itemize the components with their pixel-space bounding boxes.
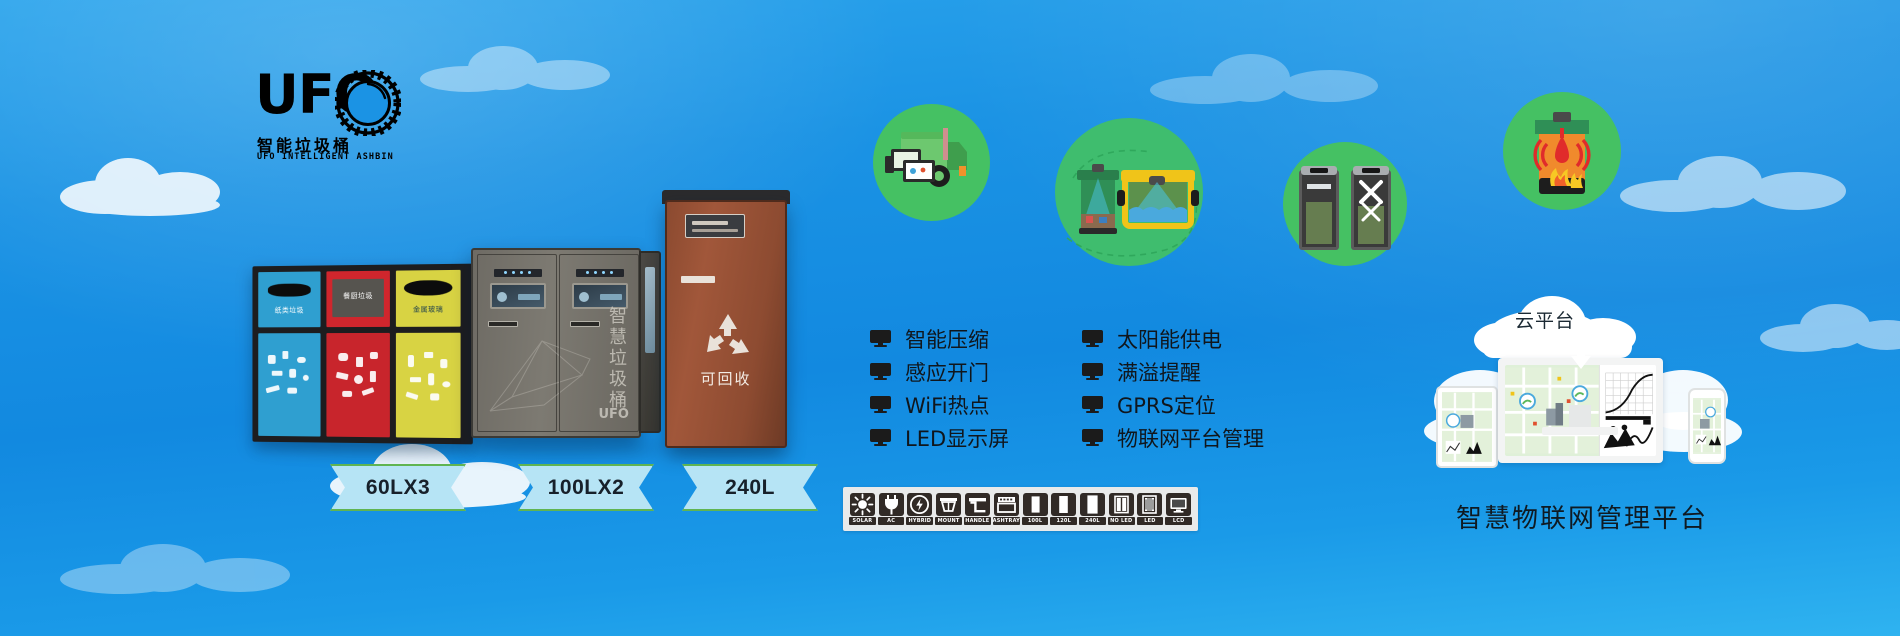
option-item-ashtray[interactable]: ASHTRAY — [993, 493, 1020, 525]
smart-bin-ufo-mark: UFO — [599, 407, 630, 422]
tri-bin-compartment-metal-glass[interactable]: 金属玻璃 — [396, 270, 461, 438]
option-item-mount[interactable]: MOUNT — [935, 493, 962, 525]
capacity-ribbon-240l: 240L — [682, 464, 818, 511]
feature-item-left-1: 感应开门 — [870, 355, 1009, 388]
analytics-chart-icon — [1600, 365, 1656, 456]
capacity-label-240l: 240L — [725, 476, 775, 500]
display-line-2 — [692, 229, 738, 232]
option-item-120l[interactable]: 120L — [1050, 493, 1077, 525]
option-item-handle[interactable]: HANDLE — [964, 493, 991, 525]
tablet-map-icon — [1442, 392, 1492, 462]
plug-icon — [879, 493, 904, 516]
feature-label: GPRS定位 — [1117, 390, 1216, 420]
display-line-1 — [692, 221, 728, 225]
sensor-text-left — [518, 294, 540, 300]
option-item-no-led[interactable]: NO LED — [1108, 493, 1135, 525]
capacity-label-60lx3: 60LX3 — [366, 476, 430, 500]
monitor-stand — [1569, 405, 1591, 427]
recycle-bin-display — [685, 214, 745, 238]
feature-item-right-3: 物联网平台管理 — [1082, 421, 1264, 454]
option-label: LED — [1137, 517, 1164, 525]
feature-label: 感应开门 — [905, 357, 989, 387]
wall-mount-icon — [936, 493, 961, 516]
cloud-decoration-right-top — [1150, 50, 1380, 110]
feature-column-right: 太阳能供电满溢提醒GPRS定位物联网平台管理 — [1082, 322, 1264, 454]
tri-bin-compartment-paper[interactable]: 纸类垃圾 — [258, 271, 320, 436]
paper-bottom-panel — [258, 333, 320, 436]
cloud-decoration-right — [1620, 150, 1850, 220]
handle-icon — [965, 493, 990, 516]
phone-screen — [1693, 398, 1721, 454]
option-item-100l[interactable]: 100L — [1022, 493, 1049, 525]
option-label: MOUNT — [935, 517, 962, 525]
monitor-icon — [870, 396, 891, 413]
option-item-lcd[interactable]: LCD — [1165, 493, 1192, 525]
product-recycle-bin[interactable]: 可回收 — [665, 200, 787, 448]
feature-circle-compaction — [1283, 142, 1407, 266]
feature-circle-fire-alarm — [1503, 92, 1621, 210]
tri-bin-label-kitchen: 餐厨垃圾 — [326, 291, 389, 301]
feature-item-right-1: 满溢提醒 — [1082, 355, 1264, 388]
no-led-icon — [1109, 493, 1134, 516]
feature-item-left-0: 智能压缩 — [870, 322, 1009, 355]
option-label: 240L — [1079, 517, 1106, 525]
metal-glass-bottom-panel — [396, 333, 461, 438]
tri-bin-label-paper: 纸类垃圾 — [258, 305, 320, 315]
option-item-led[interactable]: LED — [1137, 493, 1164, 525]
feature-label: 智能压缩 — [905, 324, 989, 354]
ufo-ring-icon — [335, 70, 401, 136]
tri-bin-compartment-kitchen[interactable]: 餐厨垃圾 — [326, 271, 389, 438]
monitor-icon — [1082, 396, 1103, 413]
brand-logo: UFO 智能垃圾桶 UFO INTELLIGENT ASHBIN — [255, 62, 400, 167]
option-item-solar[interactable]: SOLAR — [849, 493, 876, 525]
bin-fill-level-sensor-icon — [1055, 118, 1203, 266]
bin-100l-icon — [1023, 493, 1048, 516]
kitchen-top-panel: 餐厨垃圾 — [326, 271, 389, 327]
arrow-down-icon — [1568, 344, 1594, 370]
option-label: HYBRID — [906, 517, 933, 525]
option-item-ac[interactable]: AC — [878, 493, 905, 525]
iot-platform-illustration: 云平台 — [1430, 300, 1730, 545]
ashtray-icon — [994, 493, 1019, 516]
tablet-screen — [1442, 392, 1492, 462]
option-label: 120L — [1050, 517, 1077, 525]
feature-item-right-2: GPRS定位 — [1082, 388, 1264, 421]
platform-cloud-e — [1482, 336, 1632, 358]
feature-circle-fill-level — [1055, 118, 1203, 266]
platform-device-tablet[interactable] — [1436, 386, 1498, 468]
option-label: ASHTRAY — [993, 517, 1020, 525]
led-display-left — [494, 269, 542, 277]
feature-circle-truck — [873, 104, 990, 221]
feature-item-left-3: LED显示屏 — [870, 421, 1009, 454]
product-tri-color-bin[interactable]: 纸类垃圾 — [250, 265, 472, 443]
tri-bin-frame: 纸类垃圾 — [252, 264, 472, 445]
smart-bin-body: 智慧垃圾桶 UFO — [471, 248, 641, 438]
bin-120l-icon — [1051, 493, 1076, 516]
option-icon-strip: SOLARACHYBRIDMOUNTHANDLEASHTRAY100L120L2… — [843, 487, 1198, 531]
option-label: LCD — [1165, 517, 1192, 525]
smart-bin-side-text: 智慧垃圾桶 — [603, 306, 629, 411]
sensor-dot-right — [579, 292, 589, 302]
option-label: 100L — [1022, 517, 1049, 525]
option-item-hybrid[interactable]: HYBRID — [906, 493, 933, 525]
feature-item-left-2: WiFi热点 — [870, 388, 1009, 421]
monitor-icon — [1082, 330, 1103, 347]
garbage-truck-with-devices-icon — [873, 104, 990, 221]
platform-device-phone[interactable] — [1688, 388, 1726, 464]
monitor-base — [1542, 427, 1618, 435]
feature-item-right-0: 太阳能供电 — [1082, 322, 1264, 355]
platform-caption: 智慧物联网管理平台 — [1422, 498, 1742, 535]
monitor-chart-panel — [1599, 365, 1656, 456]
monitor-icon — [1082, 429, 1103, 446]
monitor-icon — [870, 363, 891, 380]
bin-240l-icon — [1080, 493, 1105, 516]
kitchen-litter-graphic — [326, 343, 389, 431]
monitor-icon — [870, 429, 891, 446]
cloud-decoration-left — [60, 150, 240, 220]
option-label: SOLAR — [849, 517, 876, 525]
recycle-bin-badge — [681, 276, 715, 283]
paper-top-panel: 纸类垃圾 — [258, 271, 320, 327]
banner-canvas: UFO 智能垃圾桶 UFO INTELLIGENT ASHBIN — [0, 0, 1900, 636]
smart-bin-side-glass — [645, 267, 655, 353]
recycle-bin-label: 可回收 — [667, 368, 785, 389]
hybrid-power-icon — [907, 493, 932, 516]
feature-label: 物联网平台管理 — [1117, 423, 1264, 453]
option-label: NO LED — [1108, 517, 1135, 525]
metal-glass-top-panel: 金属玻璃 — [396, 270, 461, 327]
lcd-icon — [1166, 493, 1191, 516]
smart-bin-door-left[interactable] — [477, 254, 557, 432]
option-label: HANDLE — [964, 517, 991, 525]
monitor-icon — [1082, 363, 1103, 380]
sensor-text-right — [600, 294, 622, 300]
cloud-decoration-farright — [1760, 300, 1900, 360]
capacity-ribbon-100lx2: 100LX2 — [518, 464, 654, 511]
led-icon — [1137, 493, 1162, 516]
metal-glass-slot-icon — [404, 280, 453, 296]
cloud-decoration-top — [420, 40, 620, 100]
feature-column-left: 智能压缩感应开门WiFi热点LED显示屏 — [870, 322, 1009, 454]
recycle-icon — [701, 310, 755, 362]
sun-icon — [850, 493, 875, 516]
product-smart-double-bin[interactable]: 智慧垃圾桶 UFO — [455, 240, 665, 448]
feature-label: WiFi热点 — [905, 390, 990, 420]
paper-litter-graphic — [258, 343, 320, 431]
capacity-label-100lx2: 100LX2 — [548, 476, 625, 500]
feature-label: 满溢提醒 — [1117, 357, 1201, 387]
metal-glass-litter-graphic — [396, 343, 461, 432]
led-display-right — [576, 269, 624, 277]
capacity-ribbon-60lx3: 60LX3 — [330, 464, 466, 511]
kitchen-bottom-panel — [326, 333, 389, 437]
option-item-240l[interactable]: 240L — [1079, 493, 1106, 525]
recycle-bin-body: 可回收 — [665, 200, 787, 448]
paper-slot-icon — [268, 283, 311, 296]
cloud-platform-label: 云平台 — [1485, 306, 1605, 333]
option-label: AC — [878, 517, 905, 525]
fire-alarm-bin-icon — [1503, 92, 1621, 210]
logo-english-name: UFO INTELLIGENT ASHBIN — [257, 152, 400, 162]
feature-label: LED显示屏 — [905, 423, 1009, 453]
tri-bin-label-metal-glass: 金属玻璃 — [396, 304, 461, 314]
card-slot-right[interactable] — [570, 321, 600, 327]
monitor-icon — [870, 330, 891, 347]
feature-label: 太阳能供电 — [1117, 324, 1222, 354]
smart-bin-side-column — [639, 251, 661, 433]
phone-map-icon — [1693, 398, 1721, 454]
cloud-decoration-bottomleft — [60, 540, 300, 600]
twin-bin-compaction-icon — [1283, 142, 1407, 266]
